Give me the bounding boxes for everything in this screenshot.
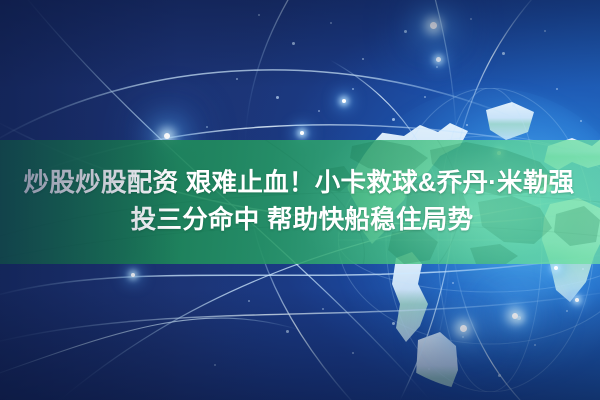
- article-banner-image: 炒股炒股配资 艰难止血！小卡救球&乔丹·米勒强 投三分命中 帮助快船稳住局势: [0, 0, 600, 400]
- headline-line-2: 投三分命中 帮助快船稳住局势: [127, 204, 474, 238]
- headline-line-1: 炒股炒股配资 艰难止血！小卡救球&乔丹·米勒强: [24, 167, 577, 201]
- headline-block: 炒股炒股配资 艰难止血！小卡救球&乔丹·米勒强 投三分命中 帮助快船稳住局势: [0, 140, 600, 264]
